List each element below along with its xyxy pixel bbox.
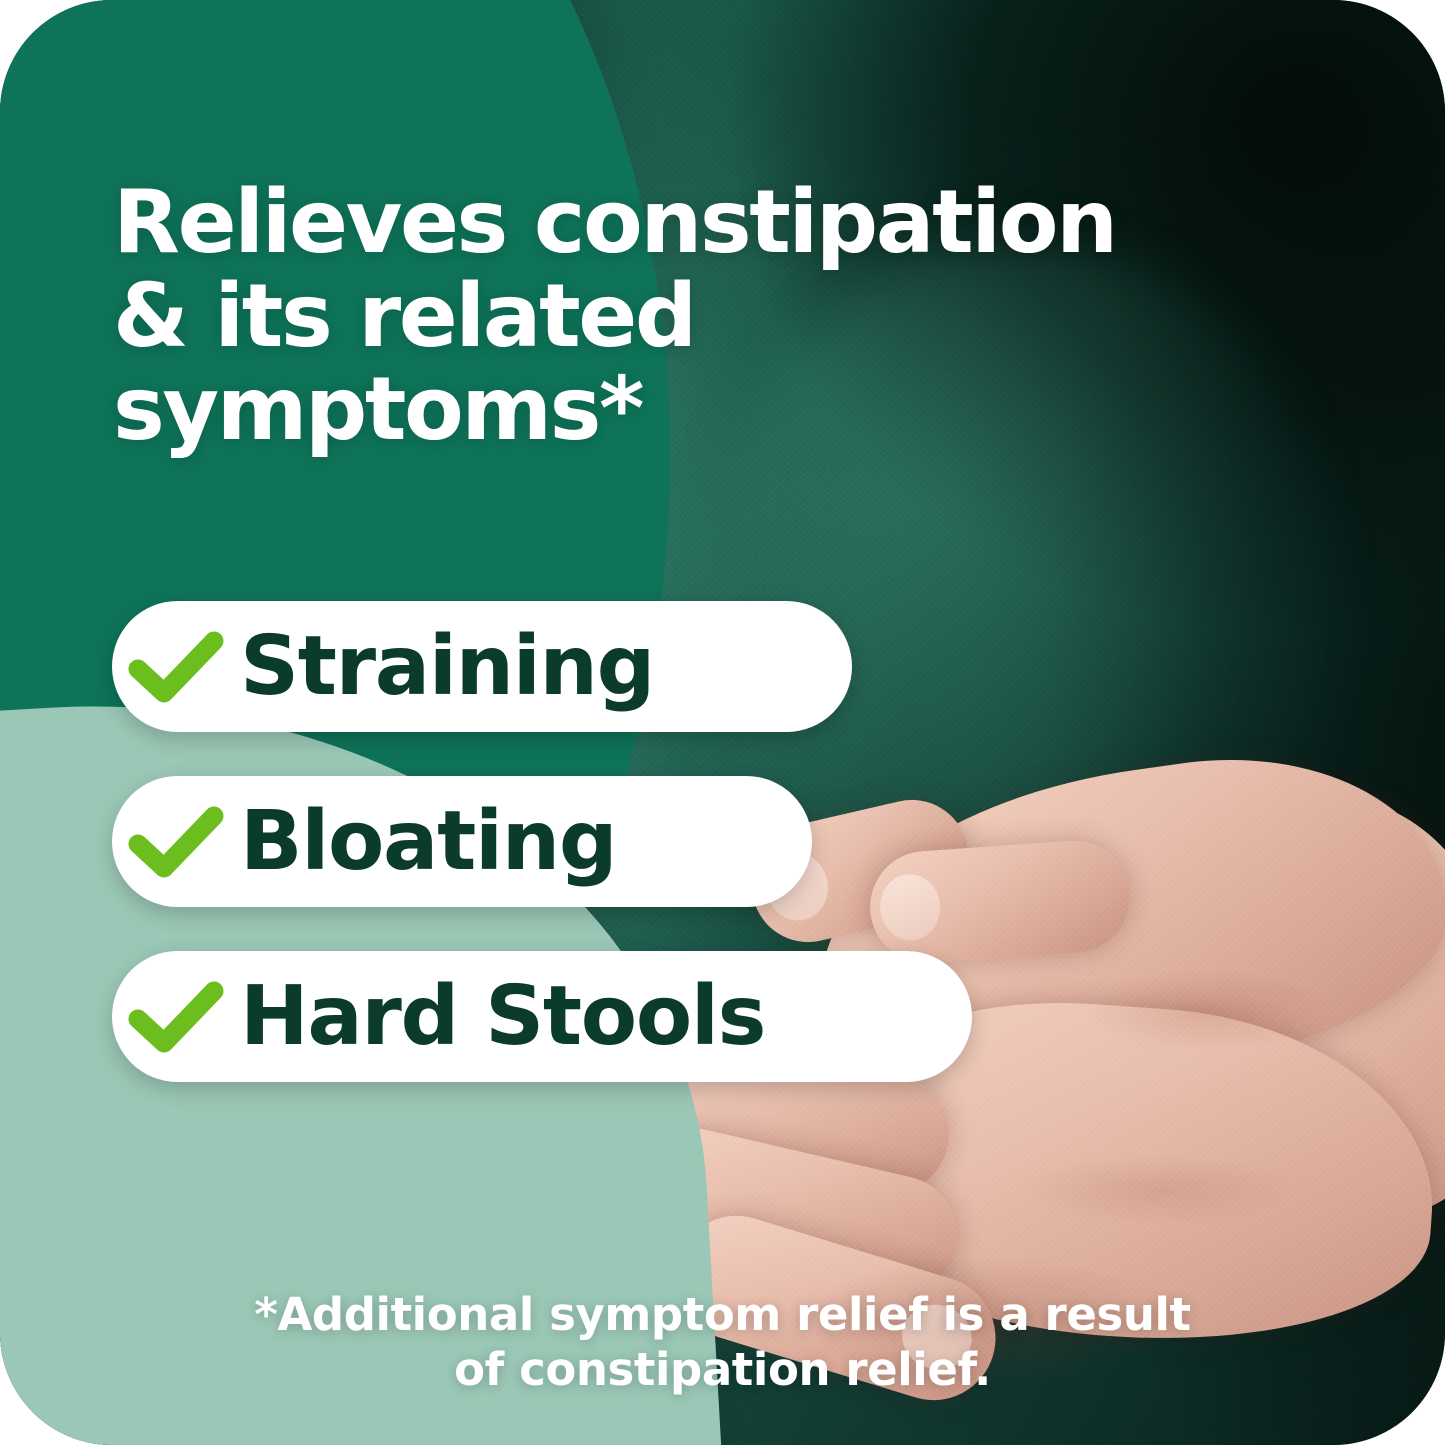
product-ad-card: Relieves constipation & its related symp…: [0, 0, 1445, 1445]
check-icon: [112, 629, 240, 705]
footnote-disclaimer: *Additional symptom relief is a result o…: [0, 1288, 1445, 1398]
symptom-pill-bloating[interactable]: Bloating: [112, 776, 812, 907]
symptom-pill-hard-stools[interactable]: Hard Stools: [112, 951, 972, 1082]
symptom-label: Hard Stools: [240, 976, 765, 1058]
symptom-label: Straining: [240, 626, 654, 708]
symptom-label: Bloating: [240, 801, 616, 883]
headline: Relieves constipation & its related symp…: [113, 176, 1323, 457]
check-icon: [112, 804, 240, 880]
check-icon: [112, 979, 240, 1055]
symptom-pill-straining[interactable]: Straining: [112, 601, 852, 732]
